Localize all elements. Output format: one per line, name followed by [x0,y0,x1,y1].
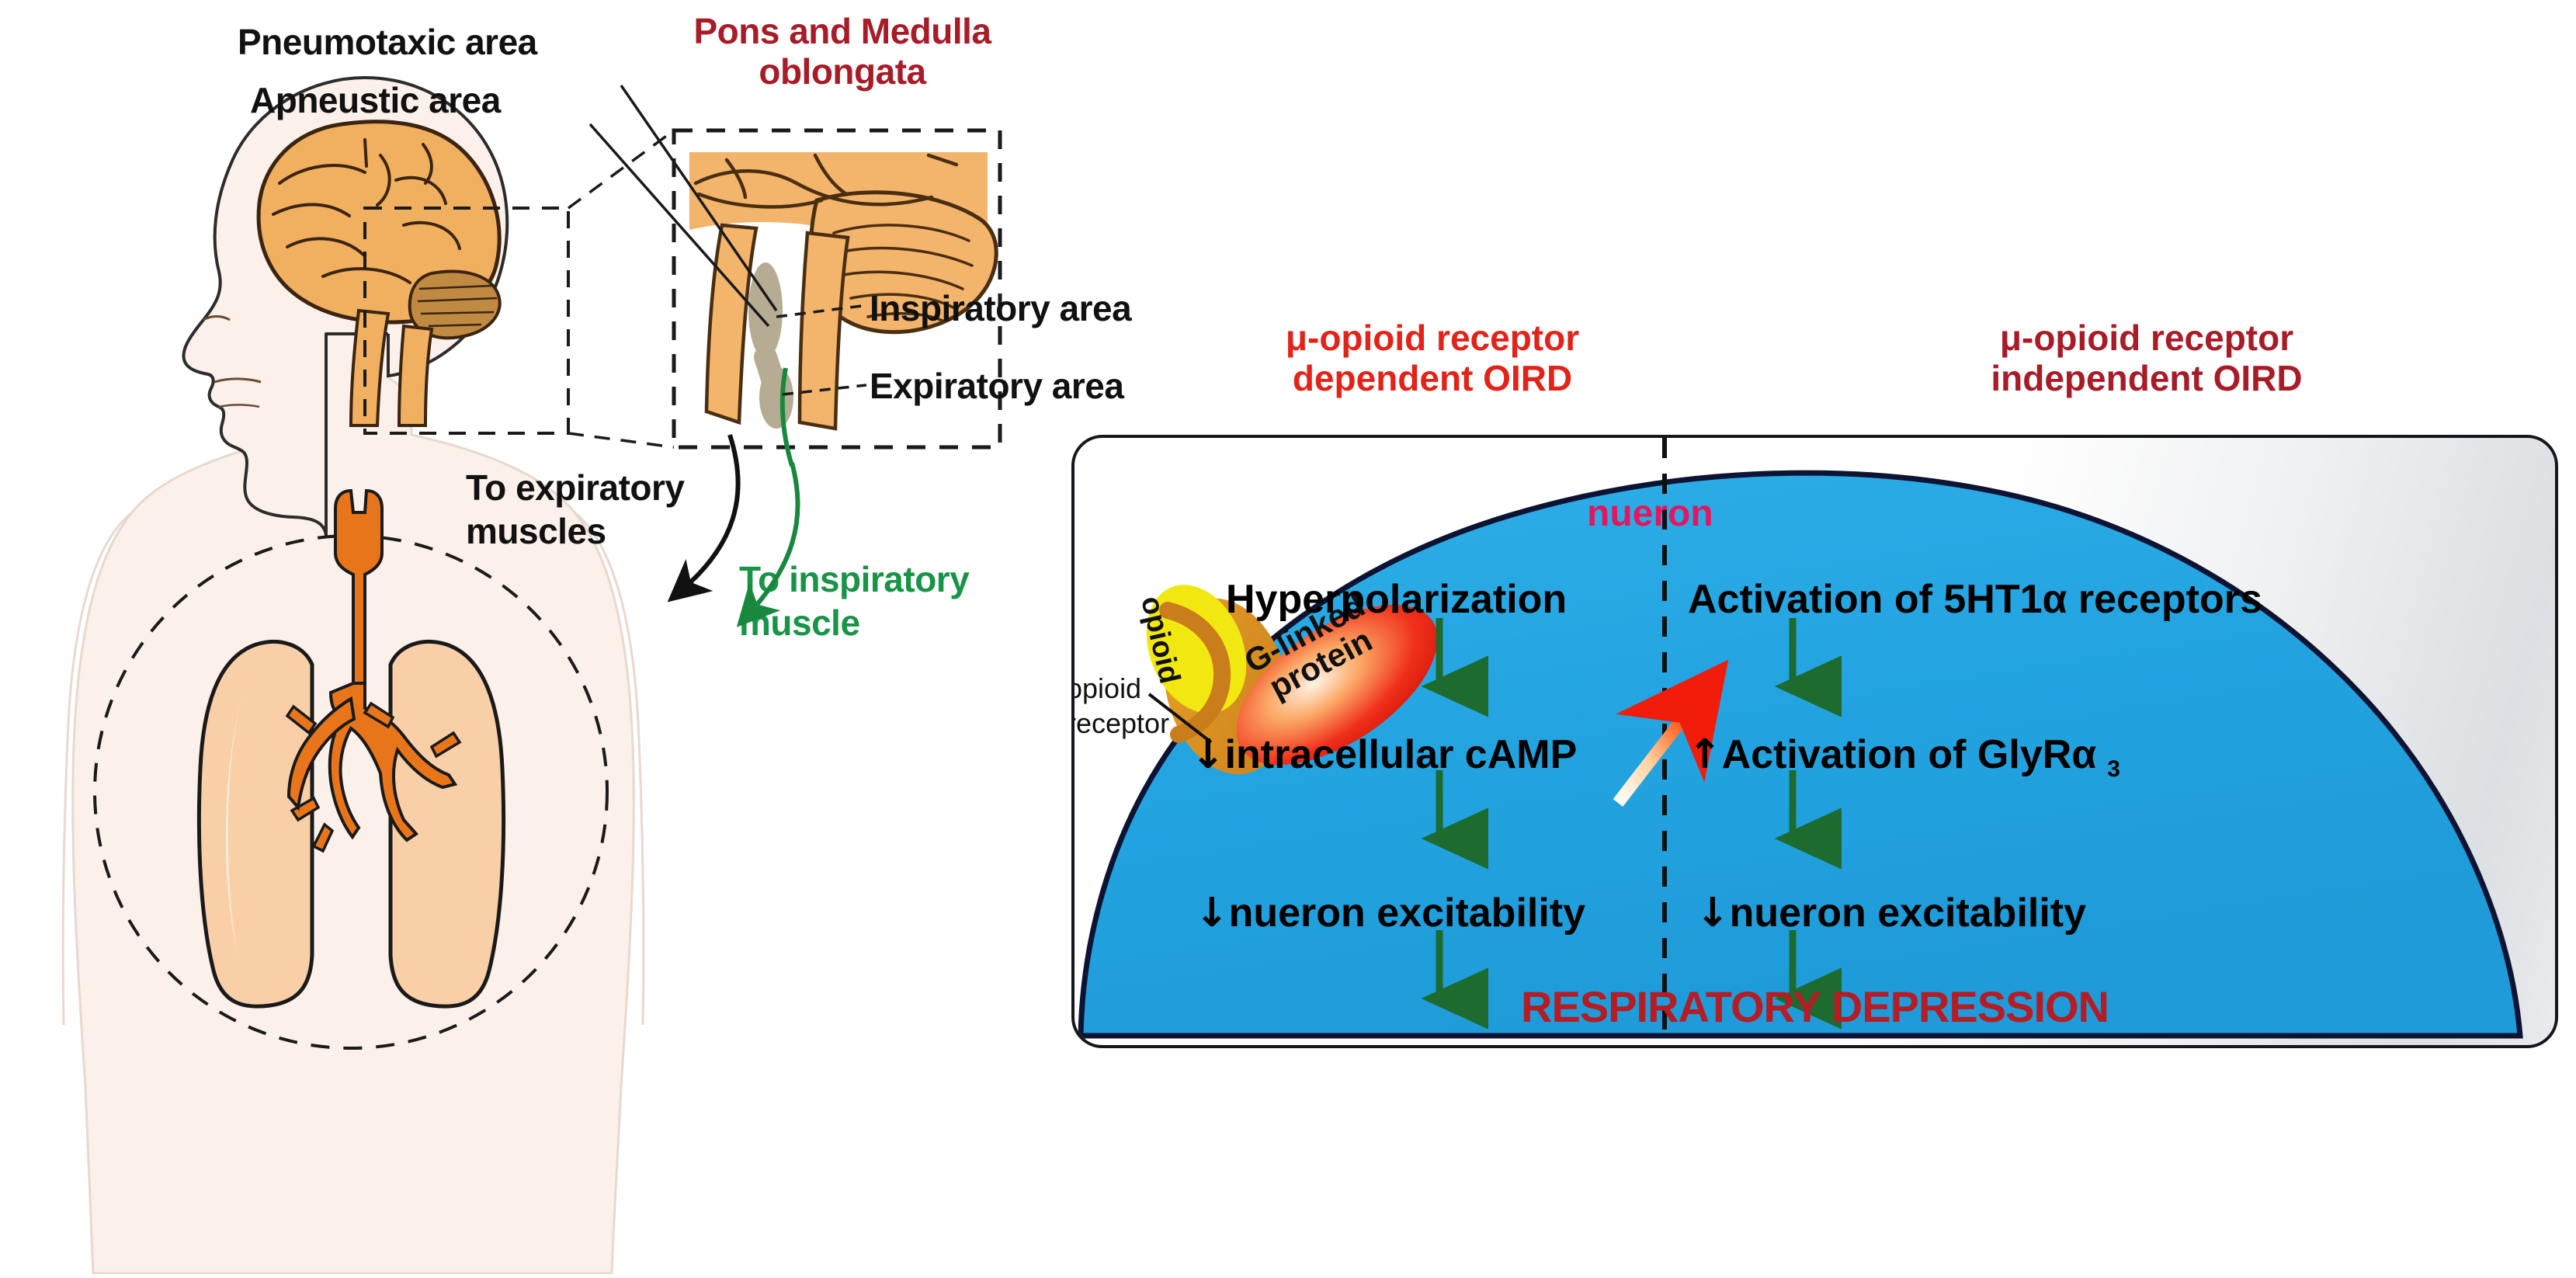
cell-boundary-box: nueron opioid opioid receptor G-linked p… [1071,435,2558,1048]
cascade-left-text-3: nueron excitability [1229,891,1585,936]
respiratory-control-illustration: Pneumotaxic area Apneustic area Pons and… [0,0,1056,1274]
cascade-right-step-3: ↓nueron excitability [1696,890,2086,936]
label-brainstem-inset-title: Pons and Medulla oblongata [679,11,1005,92]
brainstem-title-line2: oblongata [679,51,1005,92]
cascade-left-step-3: ↓nueron excitability [1195,890,1585,936]
opioid-receptor-line2: receptor [1071,706,1169,741]
header-independent-line1: μ-opioid receptor [1937,318,2356,359]
label-apneustic-area: Apneustic area [250,79,501,121]
cascade-right-arrow-3: ↓ [1696,890,1730,936]
label-opioid-receptor: opioid receptor [1071,671,1169,741]
oird-mechanism-panel: μ-opioid receptor dependent OIRD μ-opioi… [1071,419,2566,1064]
cascade-right-step-2: ↑Activation of GlyRα3 [1688,731,2120,783]
label-pneumotaxic-area: Pneumotaxic area [238,21,537,63]
header-dependent-line2: dependent OIRD [1246,359,1619,399]
cascade-left-arrow-3: ↓ [1195,890,1229,936]
cascade-right-subscript-2: 3 [2107,756,2120,782]
cascade-right-text-3: nueron excitability [1730,891,2086,936]
cascade-left-arrow-2: ↓ [1191,731,1225,778]
header-dependent-line1: μ-opioid receptor [1246,318,1619,359]
header-mu-opioid-dependent: μ-opioid receptor dependent OIRD [1246,318,1619,398]
label-neuron: nueron [1587,492,1713,535]
cascade-left-text-2: intracellular cAMP [1225,732,1578,777]
opioid-receptor-line1: opioid [1071,671,1169,706]
brainstem-title-line1: Pons and Medulla [679,11,1005,51]
to-expiratory-line1: To expiratory [466,466,685,509]
label-to-inspiratory-muscle: To inspiratory muscle [739,557,969,644]
cascade-left-step-2: ↓intracellular cAMP [1191,731,1577,778]
label-to-expiratory-muscles: To expiratory muscles [466,466,685,553]
header-independent-line2: independent OIRD [1937,359,2356,399]
label-expiratory-area: Expiratory area [870,365,1123,407]
cascade-right-arrow-2: ↑ [1688,731,1722,778]
cascade-right-text-2: Activation of GlyRα [1722,732,2097,777]
cascade-right-step-1: Activation of 5HT1α receptors [1688,576,2262,623]
inset-connector-lines [568,130,674,447]
to-inspiratory-line2: muscle [739,601,969,644]
cascade-left-step-1: Hyperpolarization [1226,576,1567,623]
header-mu-opioid-independent: μ-opioid receptor independent OIRD [1937,318,2356,398]
cascade-right-text-1: Activation of 5HT1α receptors [1688,577,2262,622]
label-respiratory-depression: RESPIRATORY DEPRESSION [1074,981,2555,1032]
cascade-left-text-1: Hyperpolarization [1226,577,1567,622]
to-expiratory-line2: muscles [466,509,685,553]
to-inspiratory-line1: To inspiratory [739,557,969,601]
label-inspiratory-area: Inspiratory area [870,287,1131,329]
